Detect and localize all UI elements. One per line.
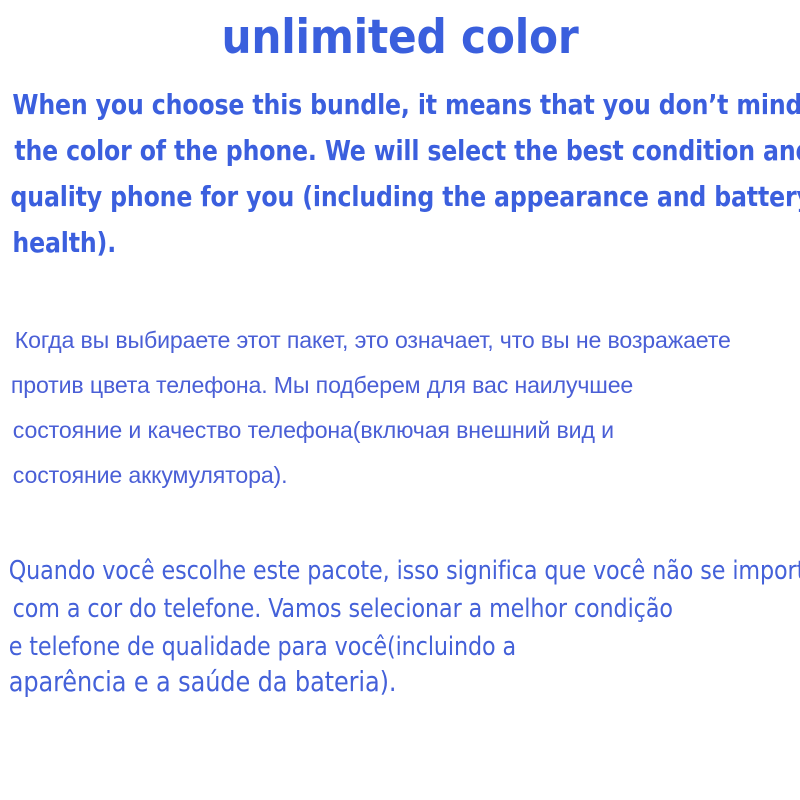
text-line: aparência e a saúde da bateria).: [0, 666, 776, 699]
text-line: quality phone for you (including the app…: [0, 174, 764, 220]
text-line: health).: [0, 220, 764, 266]
description-paragraph-portuguese: Quando você escolhe este pacote, isso si…: [0, 552, 800, 699]
text-line: состояние и качество телефона(включая вн…: [0, 408, 788, 453]
text-line: When you choose this bundle, it means th…: [0, 82, 764, 128]
page-title: unlimited color: [0, 10, 800, 66]
description-paragraph-english: When you choose this bundle, it means th…: [0, 82, 800, 266]
text-line: the color of the phone. We will select t…: [0, 128, 764, 174]
text-line: e telefone de qualidade para você(inclui…: [0, 628, 776, 666]
text-line: Quando você escolhe este pacote, isso si…: [0, 552, 776, 590]
product-description-banner: unlimited color When you choose this bun…: [0, 0, 800, 800]
text-line: Когда вы выбираете этот пакет, это означ…: [0, 318, 788, 363]
description-paragraph-russian: Когда вы выбираете этот пакет, это означ…: [0, 318, 800, 498]
text-line: состояние аккумулятора).: [0, 453, 788, 498]
text-line: против цвета телефона. Мы подберем для в…: [0, 363, 788, 408]
text-line: com a cor do telefone. Vamos selecionar …: [0, 590, 776, 628]
